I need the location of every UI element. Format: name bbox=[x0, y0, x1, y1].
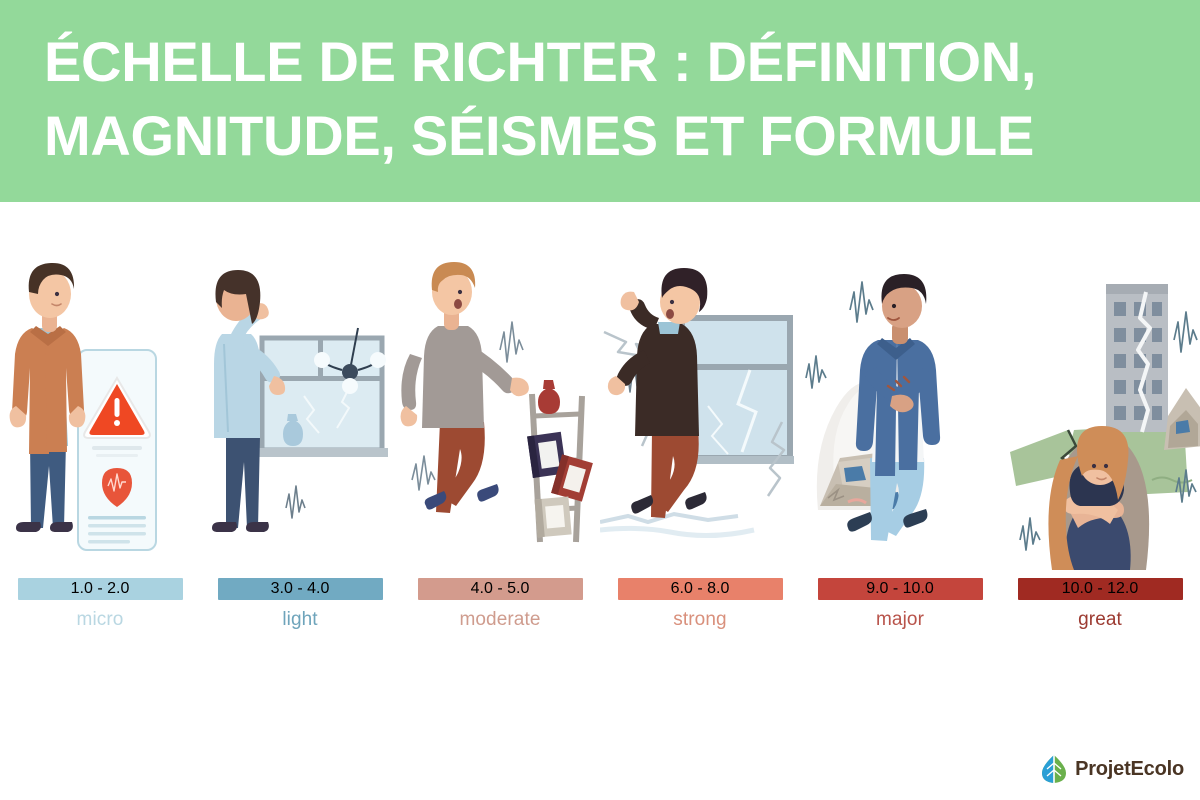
scale-range-moderate: 4.0 - 5.0 bbox=[471, 580, 530, 598]
richter-scale-legend: 1.0 - 2.0 micro 3.0 - 4.0 light 4.0 - 5.… bbox=[0, 578, 1200, 640]
scale-label-micro: micro bbox=[77, 609, 124, 631]
scale-item-strong: 6.0 - 8.0 strong bbox=[600, 578, 800, 640]
scale-bar-great: 10.0 - 12.0 bbox=[1018, 578, 1183, 600]
scale-range-major: 9.0 - 10.0 bbox=[866, 580, 934, 598]
scale-label-moderate: moderate bbox=[459, 609, 540, 631]
scale-item-micro: 1.0 - 2.0 micro bbox=[0, 578, 200, 640]
scale-range-micro: 1.0 - 2.0 bbox=[71, 580, 130, 598]
scale-item-major: 9.0 - 10.0 major bbox=[800, 578, 1000, 640]
brand-logo[interactable]: ProjetEcolo bbox=[1040, 754, 1184, 784]
scale-bar-strong: 6.0 - 8.0 bbox=[618, 578, 783, 600]
scale-item-great: 10.0 - 12.0 great bbox=[1000, 578, 1200, 640]
illustration-man-with-phone-alert bbox=[0, 210, 200, 578]
scale-bar-major: 9.0 - 10.0 bbox=[818, 578, 983, 600]
scale-range-light: 3.0 - 4.0 bbox=[271, 580, 330, 598]
scale-label-strong: strong bbox=[673, 609, 726, 631]
scale-bar-micro: 1.0 - 2.0 bbox=[18, 578, 183, 600]
scale-label-great: great bbox=[1078, 609, 1122, 631]
page-title: ÉCHELLE DE RICHTER : DÉFINITION, MAGNITU… bbox=[44, 25, 1156, 173]
scale-bar-light: 3.0 - 4.0 bbox=[218, 578, 383, 600]
scale-item-light: 3.0 - 4.0 light bbox=[200, 578, 400, 640]
infographic-page: ÉCHELLE DE RICHTER : DÉFINITION, MAGNITU… bbox=[0, 0, 1200, 800]
illustration-man-against-cracked-wall bbox=[600, 210, 800, 578]
illustration-woman-huddled-collapsed-building bbox=[1000, 210, 1200, 578]
brand-name: ProjetEcolo bbox=[1075, 758, 1184, 781]
leaf-droplet-icon bbox=[1040, 754, 1068, 784]
scale-range-strong: 6.0 - 8.0 bbox=[671, 580, 730, 598]
illustration-woman-at-window-swinging-lamp bbox=[200, 210, 400, 578]
illustration-strip bbox=[0, 210, 1200, 578]
scale-bar-moderate: 4.0 - 5.0 bbox=[418, 578, 583, 600]
scale-item-moderate: 4.0 - 5.0 moderate bbox=[400, 578, 600, 640]
illustration-man-stumbling-falling-books bbox=[400, 210, 600, 578]
scale-range-great: 10.0 - 12.0 bbox=[1062, 580, 1139, 598]
illustration-injured-person-leaving-rubble bbox=[800, 210, 1000, 578]
title-banner: ÉCHELLE DE RICHTER : DÉFINITION, MAGNITU… bbox=[0, 0, 1200, 202]
scale-label-light: light bbox=[282, 609, 317, 631]
scale-label-major: major bbox=[876, 609, 924, 631]
